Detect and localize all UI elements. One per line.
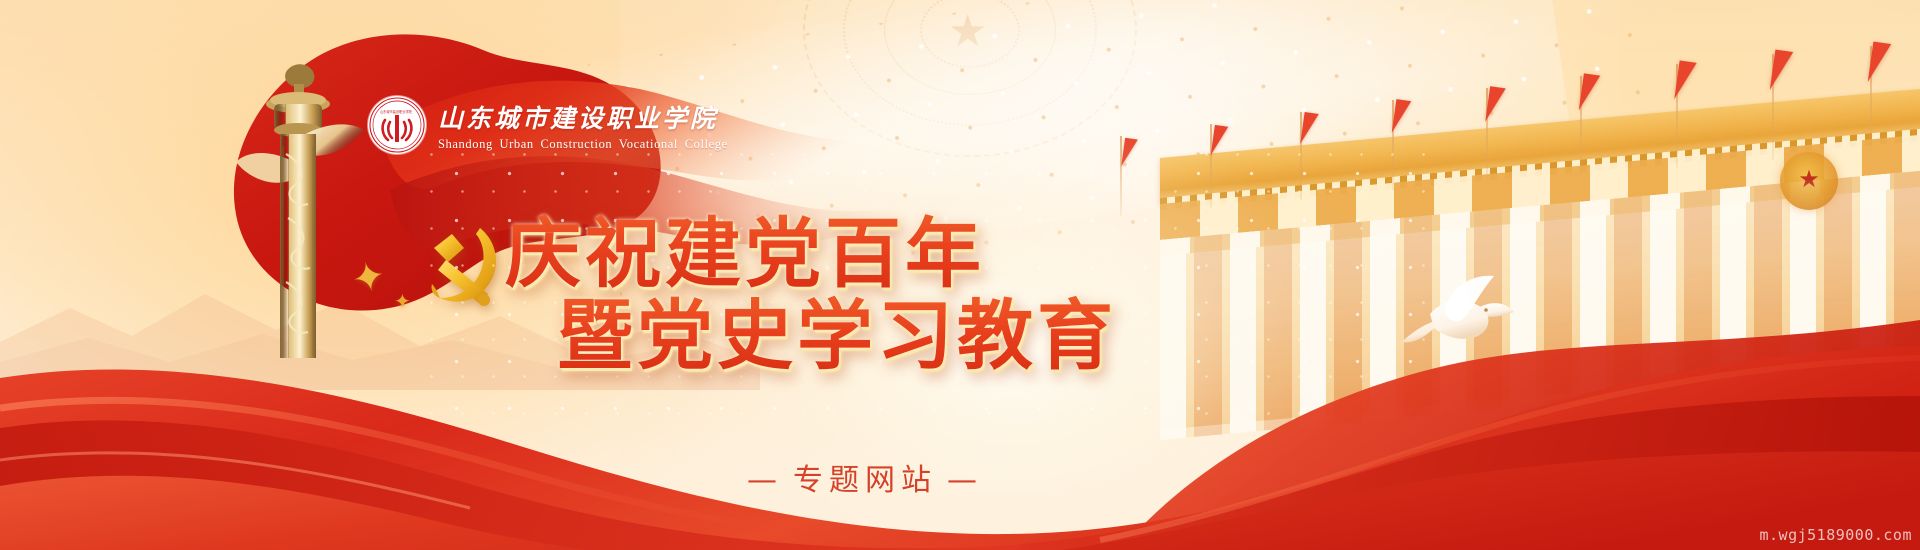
flag-pennant xyxy=(1485,86,1506,124)
school-emblem-svg: 山东城市建设职业学院 xyxy=(368,96,426,154)
flag-pole xyxy=(1486,88,1488,184)
flag-pennant xyxy=(1300,112,1319,146)
building-facade xyxy=(1160,171,1920,430)
sky-glow-right xyxy=(1220,0,1920,520)
school-name-block: 山东城市建设职业学院 Shandong Urban Construction V… xyxy=(438,99,728,152)
flag-pole xyxy=(1870,46,1872,154)
building-capitals xyxy=(1160,171,1920,256)
flag-row xyxy=(1100,40,1920,240)
flag-pennant xyxy=(1770,50,1794,93)
hammer-sickle-emblem-icon xyxy=(418,218,510,310)
subtitle-dash-left: — xyxy=(737,463,793,498)
headline-line-1: 庆祝建党百年 xyxy=(505,213,1225,295)
flag-pole xyxy=(1580,76,1582,176)
headline-line-2: 暨党史学习教育 xyxy=(557,295,1225,377)
flag-pole xyxy=(1120,136,1122,216)
flag-pennant xyxy=(1211,125,1229,157)
rosette-ring-outer xyxy=(803,0,1137,157)
school-name-en: Shandong Urban Construction Vocational C… xyxy=(438,137,728,152)
flag-pennant xyxy=(1868,42,1892,85)
peace-dove-icon xyxy=(1400,268,1520,364)
rosette-ring-mid xyxy=(843,0,1097,126)
building-columns xyxy=(1160,171,1920,440)
building-roof xyxy=(1160,89,1920,204)
flag-pole xyxy=(1300,112,1302,200)
flag-pennant xyxy=(1674,60,1697,101)
celebration-banner: ✦ ✦ 山东城市建设职业学院 山东城市建设 xyxy=(0,0,1920,550)
subtitle-block: —专题网站— xyxy=(505,455,1225,499)
flag-pole xyxy=(1210,124,1212,208)
rosette-ring-inner xyxy=(884,0,1056,95)
gold-star-icon-small: ✦ xyxy=(394,292,411,312)
flag-pole xyxy=(1772,54,1774,160)
great-hall-of-the-people xyxy=(1160,100,1920,430)
ceiling-rosette-decor xyxy=(780,0,1160,180)
building-frieze xyxy=(1160,135,1920,242)
huabiao-pillar-icon xyxy=(236,58,366,358)
subtitle-dash-right: — xyxy=(937,463,993,498)
school-logo-mark-icon: 山东城市建设职业学院 xyxy=(368,96,426,154)
watermark-text: m.wgj5189000.com xyxy=(1760,526,1913,544)
svg-text:山东城市建设职业学院: 山东城市建设职业学院 xyxy=(380,109,413,114)
subtitle-text: 专题网站 xyxy=(793,463,937,498)
national-emblem-icon xyxy=(1780,152,1838,210)
headline-block: 庆祝建党百年 暨党史学习教育 xyxy=(505,213,1225,377)
flag-pennant xyxy=(1121,138,1138,168)
flag-pennant xyxy=(1579,73,1601,112)
flag-pole xyxy=(1676,64,1678,168)
building-dentils xyxy=(1160,129,1920,210)
school-name-cn: 山东城市建设职业学院 xyxy=(438,99,728,135)
gold-star-icon: ✦ xyxy=(348,255,389,301)
rosette-ring-core xyxy=(920,0,1020,68)
school-logo-lockup: 山东城市建设职业学院 山东城市建设职业学院 Shandong Urban Con… xyxy=(368,96,728,154)
flag-pennant xyxy=(1392,99,1412,135)
flag-pole xyxy=(1392,100,1394,192)
